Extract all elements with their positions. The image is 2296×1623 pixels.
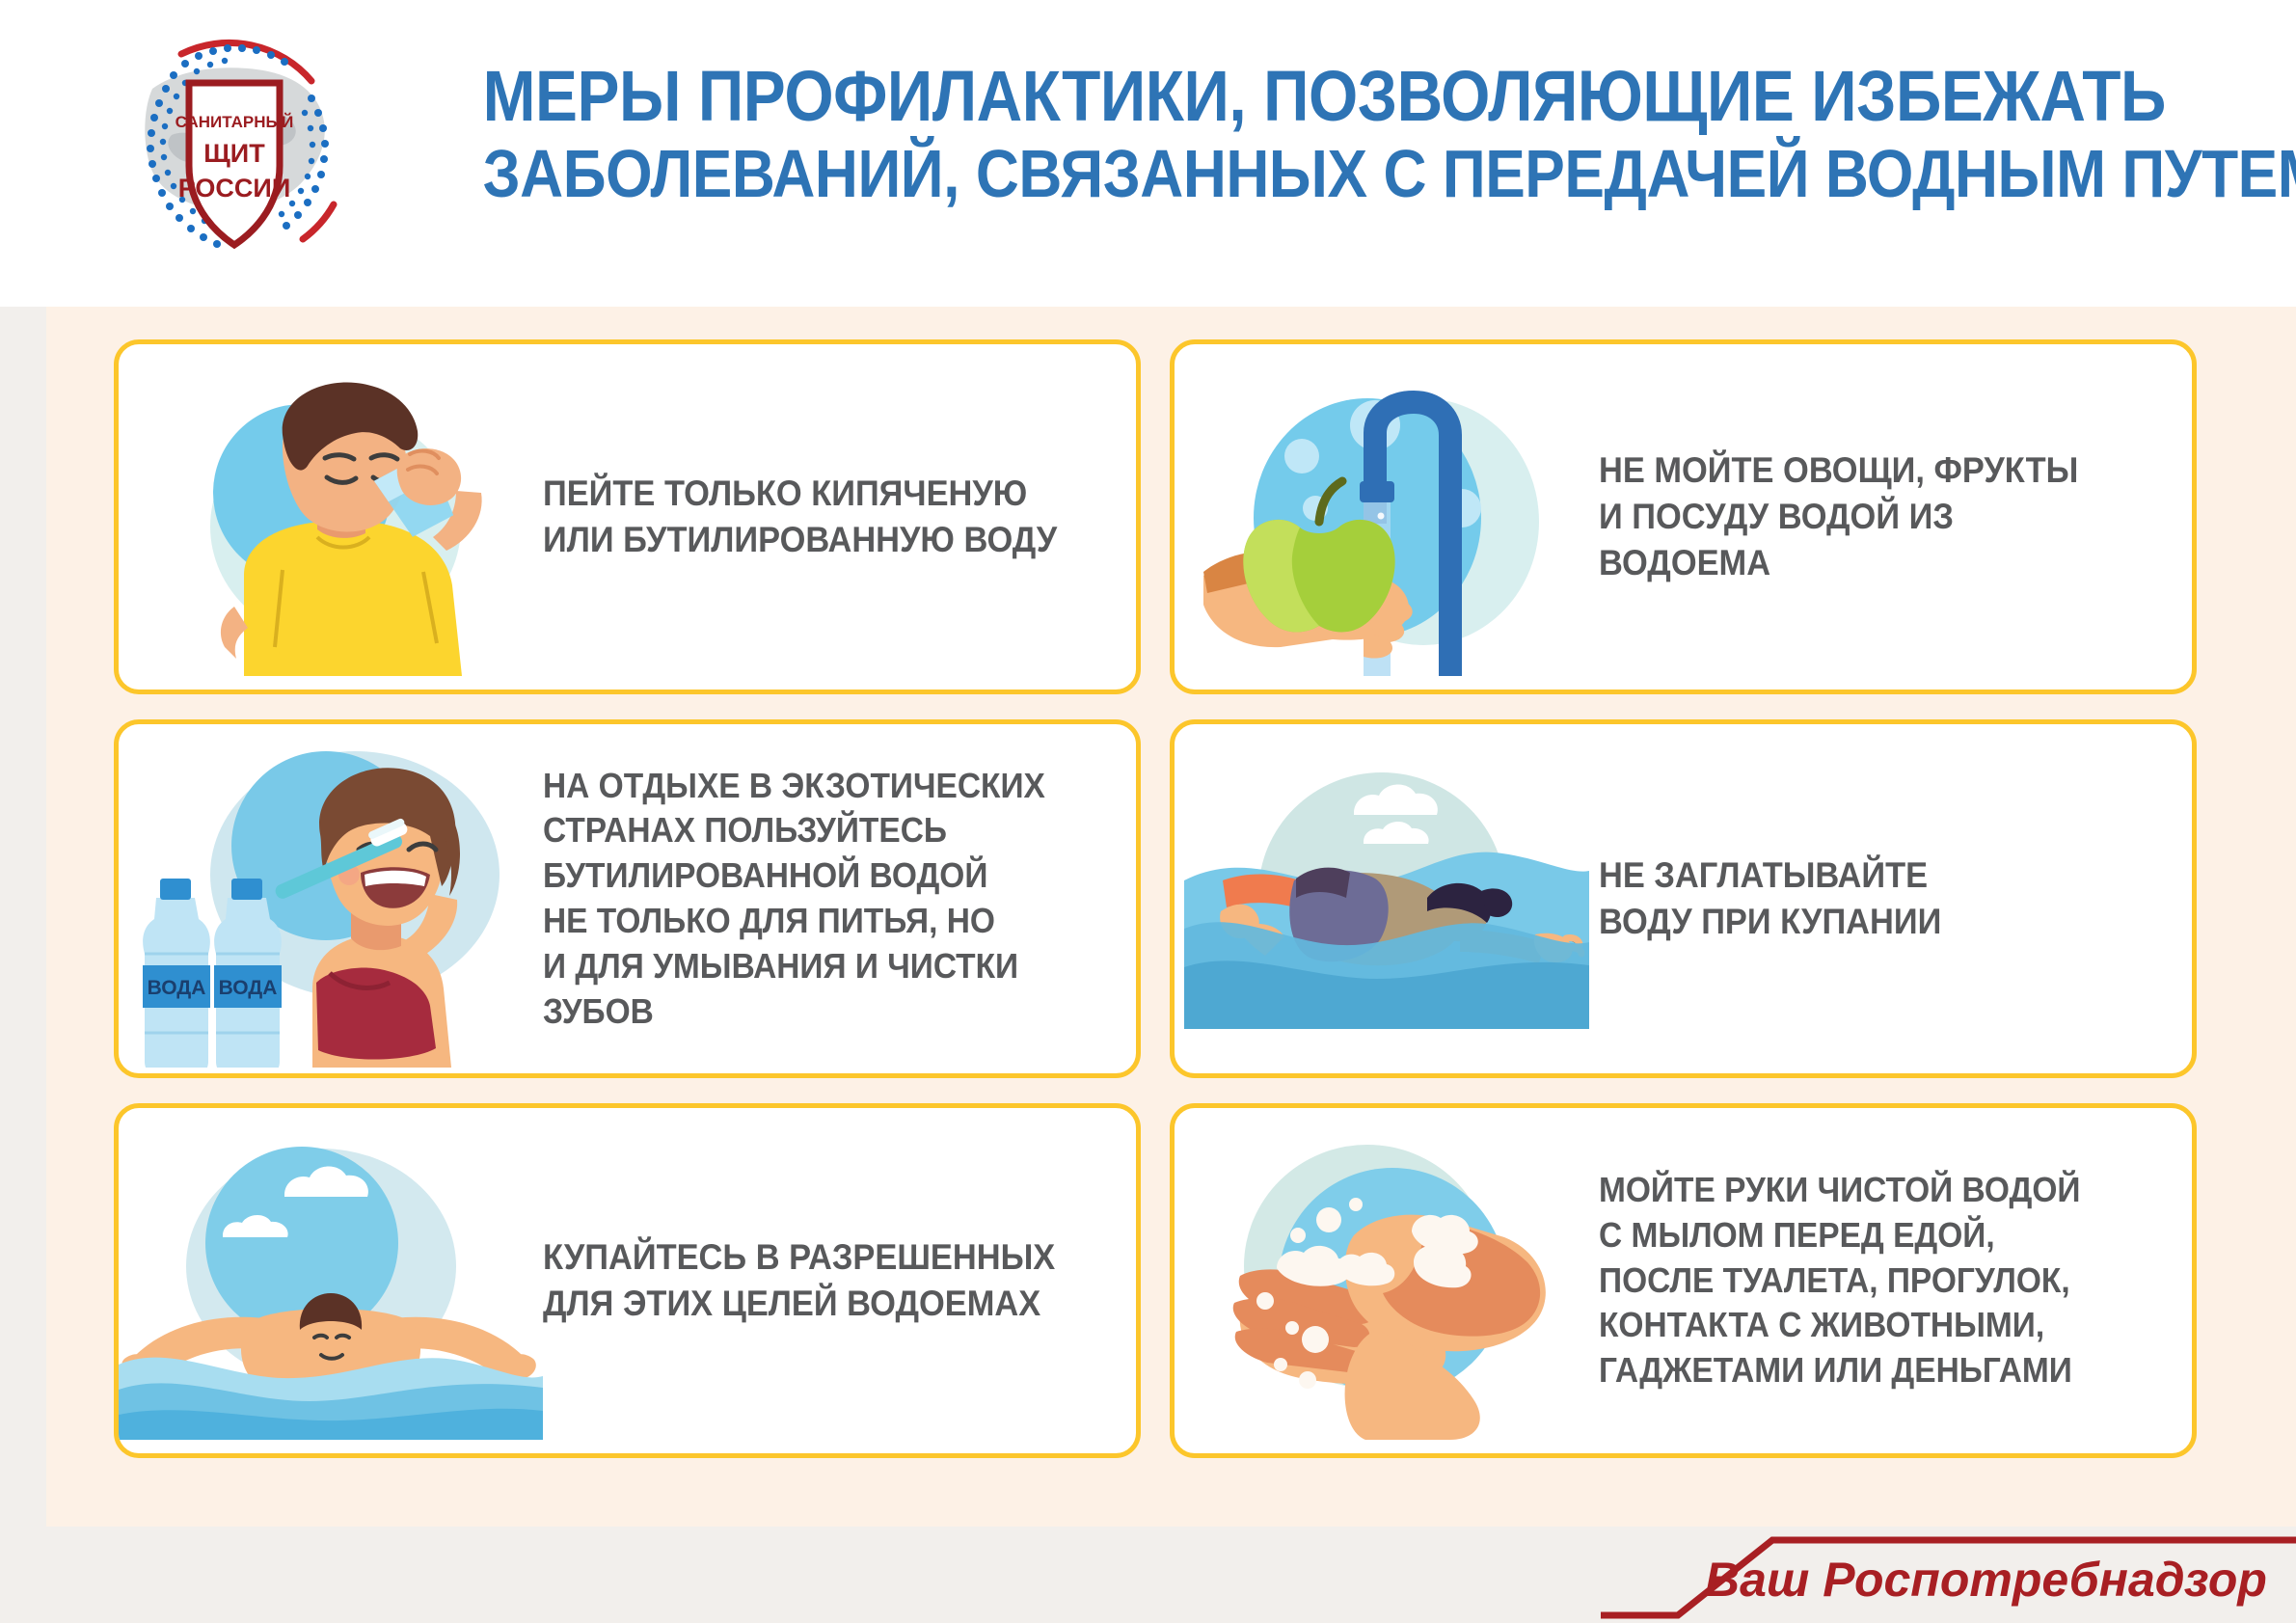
card-line: ГАДЖЕТАМИ ИЛИ ДЕНЬГАМИ	[1599, 1348, 2130, 1393]
card-line: ИЛИ БУТИЛИРОВАННУЮ ВОДУ	[543, 517, 1074, 563]
card-line: КУПАЙТЕСЬ В РАЗРЕШЕННЫХ	[543, 1234, 1074, 1281]
card-text: МОЙТЕ РУКИ ЧИСТОЙ ВОДОЙ С МЫЛОМ ПЕРЕД ЕД…	[1599, 1168, 2150, 1393]
swimmer-butterfly-icon	[119, 1108, 543, 1453]
card-text: ПЕЙТЕ ТОЛЬКО КИПЯЧЕНУЮ ИЛИ БУТИЛИРОВАННУ…	[543, 471, 1094, 563]
sanitary-shield-russia-logo: САНИТАРНЫЙ ЩИТ РОССИИ	[114, 21, 355, 274]
washing-hands-soap-icon	[1175, 1108, 1599, 1453]
card-text: НА ОТДЫХЕ В ЭКЗОТИЧЕСКИХ СТРАНАХ ПОЛЬЗУЙ…	[543, 764, 1094, 1035]
card-text: НЕ ЗАГЛАТЫВАЙТЕ ВОДУ ПРИ КУПАНИИ	[1599, 852, 2150, 945]
bottle-label: ВОДА	[219, 977, 278, 999]
card-line: С МЫЛОМ ПЕРЕД ЕДОЙ,	[1599, 1213, 2130, 1258]
cards-row-2: ВОДА ВОДА	[114, 719, 2197, 1078]
faucet-apple-hand-icon	[1175, 344, 1599, 690]
card-text: КУПАЙТЕСЬ В РАЗРЕШЕННЫХ ДЛЯ ЭТИХ ЦЕЛЕЙ В…	[543, 1234, 1094, 1327]
card-line: И ПОСУДУ ВОДОЙ ИЗ	[1599, 494, 2130, 540]
card-line: ВОДУ ПРИ КУПАНИИ	[1599, 899, 2130, 945]
logo-line3: РОССИИ	[178, 174, 290, 203]
page-title-line-1: МЕРЫ ПРОФИЛАКТИКИ, ПОЗВОЛЯЮЩИЕ ИЗБЕЖАТЬ	[483, 60, 2131, 132]
footer: Ваш Роспотребнадзор	[0, 1527, 2296, 1623]
infographic-page: САНИТАРНЫЙ ЩИТ РОССИИ МЕРЫ ПРОФИЛАКТИКИ,…	[0, 0, 2296, 1623]
cards-row-3: КУПАЙТЕСЬ В РАЗРЕШЕННЫХ ДЛЯ ЭТИХ ЦЕЛЕЙ В…	[114, 1103, 2197, 1458]
card-line: ЗУБОВ	[543, 989, 1074, 1035]
cards-row-1: ПЕЙТЕ ТОЛЬКО КИПЯЧЕНУЮ ИЛИ БУТИЛИРОВАННУ…	[114, 339, 2197, 694]
card-no-wash-produce[interactable]: НЕ МОЙТЕ ОВОЩИ, ФРУКТЫ И ПОСУДУ ВОДОЙ ИЗ…	[1170, 339, 2197, 694]
header: САНИТАРНЫЙ ЩИТ РОССИИ МЕРЫ ПРОФИЛАКТИКИ,…	[0, 0, 2296, 307]
card-line: НЕ МОЙТЕ ОВОЩИ, ФРУКТЫ	[1599, 447, 2130, 494]
left-strip	[0, 307, 46, 1623]
card-line: КОНТАКТА С ЖИВОТНЫМИ,	[1599, 1303, 2130, 1348]
card-boiled-water[interactable]: ПЕЙТЕ ТОЛЬКО КИПЯЧЕНУЮ ИЛИ БУТИЛИРОВАННУ…	[114, 339, 1141, 694]
card-line: ВОДОЕМА	[1599, 540, 2130, 586]
card-dont-swallow-water[interactable]: НЕ ЗАГЛАТЫВАЙТЕ ВОДУ ПРИ КУПАНИИ	[1170, 719, 2197, 1078]
card-line: МОЙТЕ РУКИ ЧИСТОЙ ВОДОЙ	[1599, 1168, 2130, 1213]
card-line: БУТИЛИРОВАННОЙ ВОДОЙ	[543, 853, 1074, 899]
swimmer-freestyle-icon	[1175, 724, 1599, 1073]
man-drinking-water-icon	[119, 344, 543, 690]
card-line: И ДЛЯ УМЫВАНИЯ И ЧИСТКИ	[543, 944, 1074, 989]
card-bottled-water-abroad[interactable]: ВОДА ВОДА	[114, 719, 1141, 1078]
woman-brushing-teeth-bottles-icon: ВОДА ВОДА	[119, 724, 543, 1073]
card-line: НА ОТДЫХЕ В ЭКЗОТИЧЕСКИХ	[543, 764, 1074, 809]
bottle-label: ВОДА	[148, 977, 206, 999]
card-line: НЕ ТОЛЬКО ДЛЯ ПИТЬЯ, НО	[543, 899, 1074, 944]
card-text: НЕ МОЙТЕ ОВОЩИ, ФРУКТЫ И ПОСУДУ ВОДОЙ ИЗ…	[1599, 447, 2150, 586]
card-swim-permitted-areas[interactable]: КУПАЙТЕСЬ В РАЗРЕШЕННЫХ ДЛЯ ЭТИХ ЦЕЛЕЙ В…	[114, 1103, 1141, 1458]
card-line: ДЛЯ ЭТИХ ЦЕЛЕЙ ВОДОЕМАХ	[543, 1281, 1074, 1327]
page-title: МЕРЫ ПРОФИЛАКТИКИ, ПОЗВОЛЯЮЩИЕ ИЗБЕЖАТЬ …	[381, 60, 2232, 209]
logo-line1: САНИТАРНЫЙ	[176, 113, 294, 131]
card-line: ПЕЙТЕ ТОЛЬКО КИПЯЧЕНУЮ	[543, 471, 1074, 517]
cards-grid: ПЕЙТЕ ТОЛЬКО КИПЯЧЕНУЮ ИЛИ БУТИЛИРОВАННУ…	[114, 339, 2197, 1483]
footer-brand-text: Ваш Роспотребнадзор	[1705, 1552, 2267, 1608]
logo-line2: ЩИТ	[203, 139, 265, 168]
page-title-line-2: ЗАБОЛЕВАНИЙ, СВЯЗАННЫХ С ПЕРЕДАЧЕЙ ВОДНЫ…	[483, 140, 2131, 208]
card-line: ПОСЛЕ ТУАЛЕТА, ПРОГУЛОК,	[1599, 1258, 2130, 1304]
card-wash-hands[interactable]: МОЙТЕ РУКИ ЧИСТОЙ ВОДОЙ С МЫЛОМ ПЕРЕД ЕД…	[1170, 1103, 2197, 1458]
card-line: СТРАНАХ ПОЛЬЗУЙТЕСЬ	[543, 808, 1074, 853]
cards-area: ПЕЙТЕ ТОЛЬКО КИПЯЧЕНУЮ ИЛИ БУТИЛИРОВАННУ…	[0, 307, 2296, 1623]
card-line: НЕ ЗАГЛАТЫВАЙТЕ	[1599, 852, 2130, 899]
